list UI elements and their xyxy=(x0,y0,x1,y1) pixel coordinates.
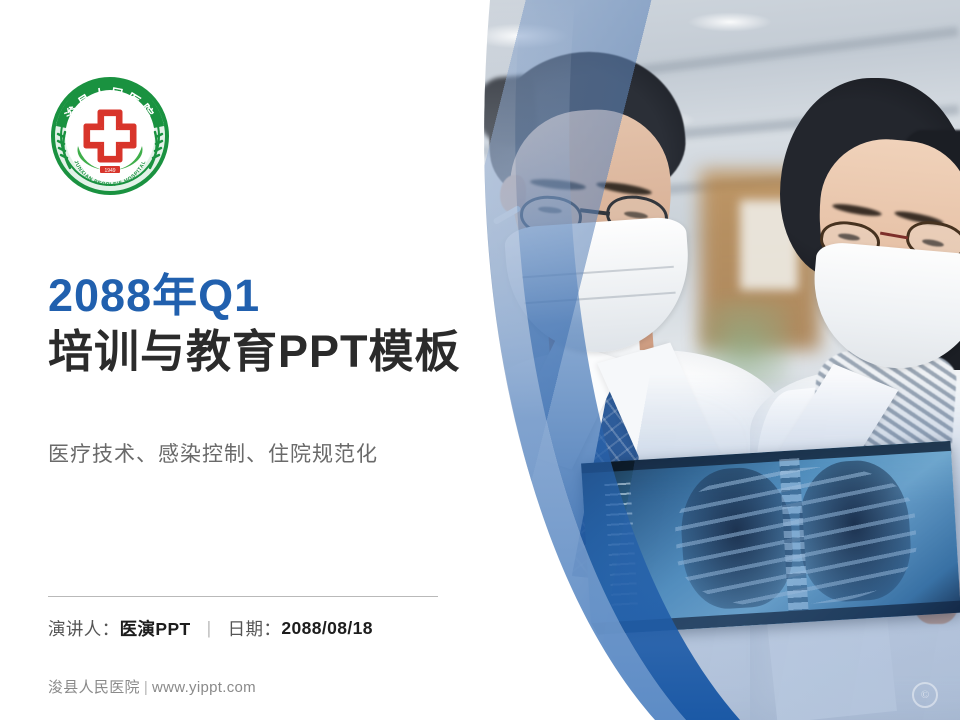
coat-pocket xyxy=(490,600,580,658)
photo-watermark: © xyxy=(912,682,938,708)
meta-divider xyxy=(48,596,438,597)
bridge xyxy=(880,232,908,240)
footer-url[interactable]: www.yippt.com xyxy=(152,679,256,696)
speaker-value: 医演PPT xyxy=(120,616,191,641)
meta-row: 演讲人： 医演PPT | 日期： 2088/08/18 xyxy=(48,616,373,641)
footer-pipe: | xyxy=(144,679,148,696)
logo-year-text: 1949 xyxy=(104,168,115,174)
subtitle: 医疗技术、感染控制、住院规范化 xyxy=(48,438,378,468)
chest-xray-film xyxy=(581,441,960,635)
date-label: 日期： xyxy=(228,616,282,641)
title-block: 2088年Q1 培训与教育PPT模板 xyxy=(48,272,508,378)
footer: 浚县人民医院|www.yippt.com xyxy=(48,676,256,697)
footer-org: 浚县人民医院 xyxy=(48,679,140,696)
speaker-label: 演讲人： xyxy=(48,616,120,641)
film-scale-markings xyxy=(604,482,638,607)
title-year: 2088年Q1 xyxy=(48,272,508,321)
presentation-title-slide: © xyxy=(0,0,960,720)
title-main: 培训与教育PPT模板 xyxy=(48,325,508,378)
face-mask-icon xyxy=(504,216,695,358)
date-value: 2088/08/18 xyxy=(281,618,373,639)
face-mask-icon xyxy=(807,241,960,375)
hospital-logo: 浚县人民医院 JUNXIAN PEOPLE'S HOSPITAL 1949 xyxy=(48,74,172,198)
meta-separator: | xyxy=(207,618,212,639)
